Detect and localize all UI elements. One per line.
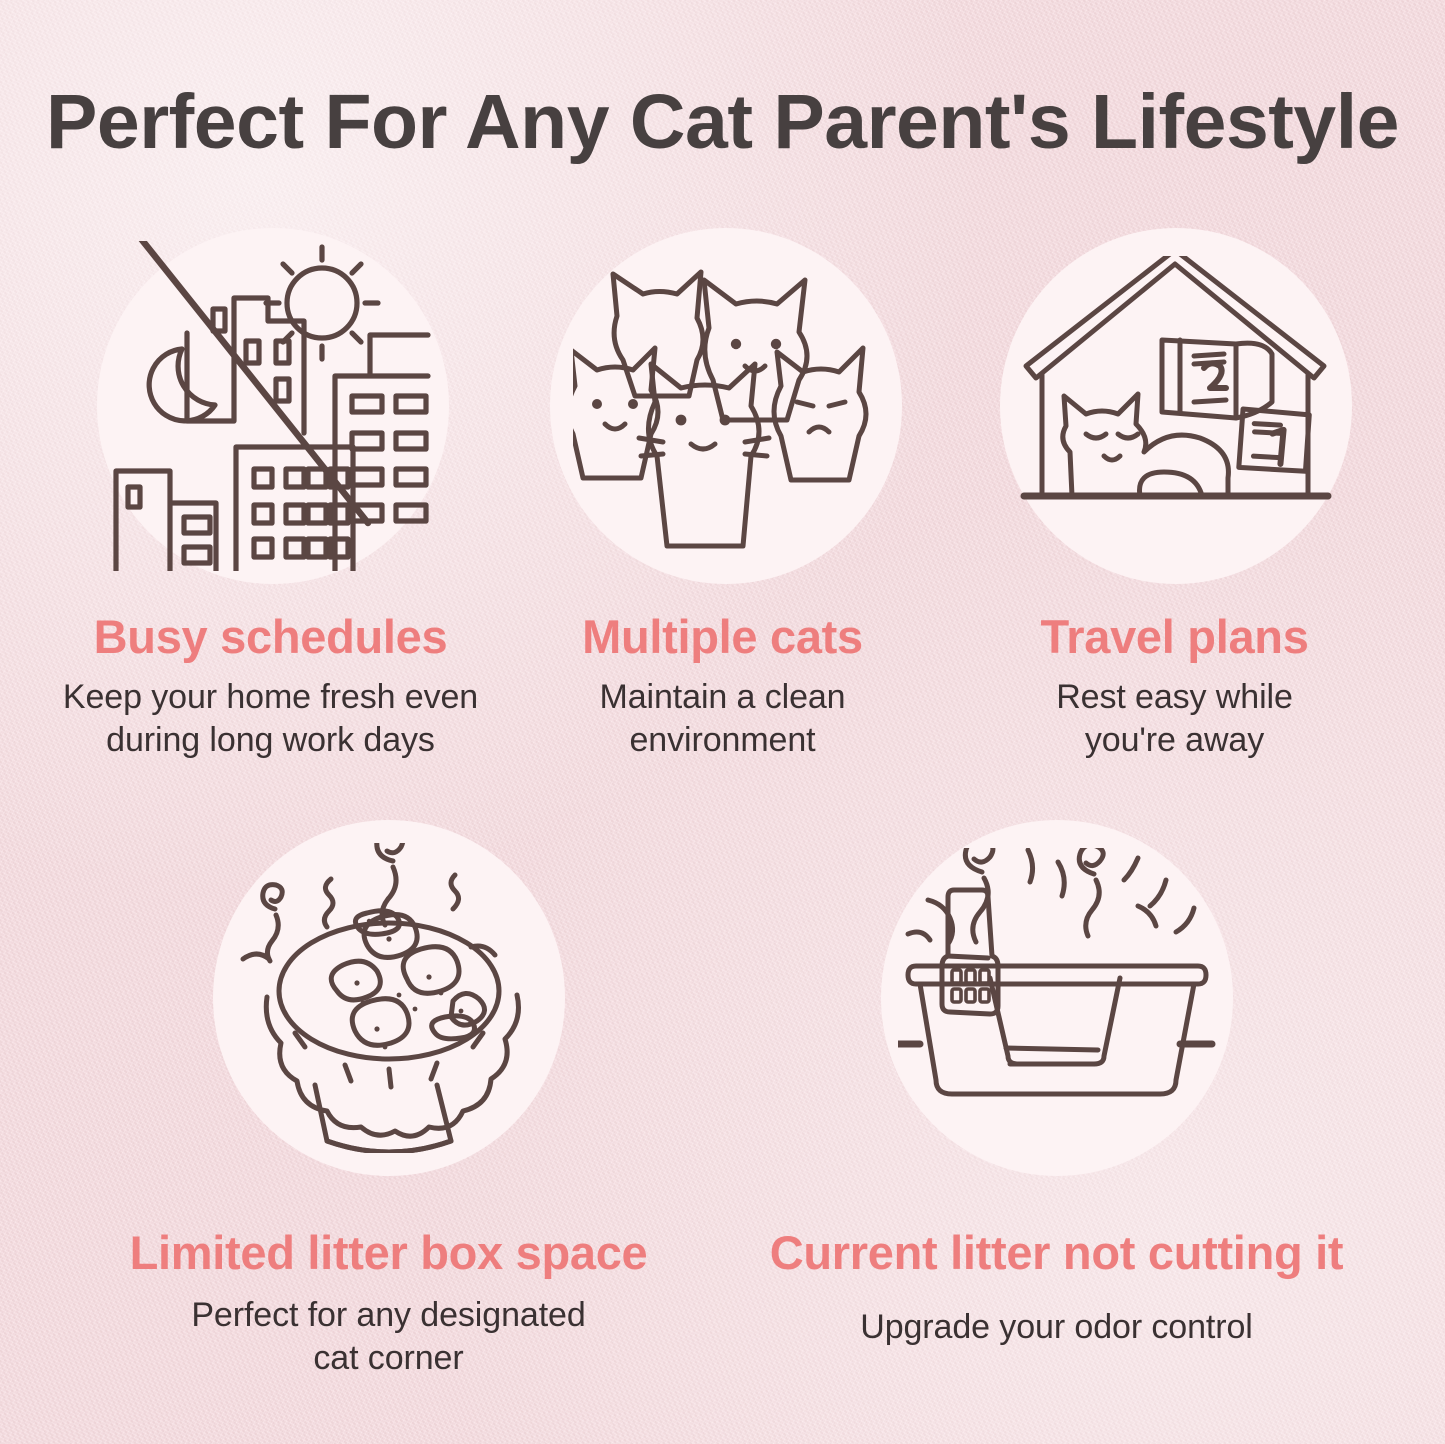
- house-with-sleeping-cat-calendar-icon: [1000, 228, 1352, 584]
- cat-front: [639, 364, 769, 546]
- feature-title: Multiple cats: [582, 612, 863, 662]
- cat-back-right: [704, 280, 807, 420]
- feature-description: Keep your home fresh even during long wo…: [63, 676, 478, 763]
- cat-back-left: [613, 272, 703, 396]
- feature-description: Maintain a clean environment: [600, 676, 846, 763]
- moon-icon: [149, 349, 215, 421]
- litter-clumps: [331, 911, 484, 1050]
- feature-title: Current litter not cutting it: [770, 1228, 1344, 1278]
- feature-card-multiple-cats: Multiple cats Maintain a clean environme…: [497, 228, 949, 763]
- feature-description: Rest easy while you're away: [1056, 676, 1293, 763]
- feature-card-busy-schedules: Busy schedules Keep your home fresh even…: [45, 228, 497, 763]
- feature-title: Limited litter box space: [130, 1228, 648, 1278]
- city-buildings-icon: [116, 298, 428, 571]
- feature-row-bottom: Limited litter box space Perfect for any…: [0, 820, 1445, 1381]
- cat-left: [573, 348, 658, 478]
- feature-card-current-litter: Current litter not cutting it Upgrade yo…: [727, 820, 1387, 1381]
- litter-box-icon: [898, 890, 1212, 1094]
- feature-card-travel-plans: Travel plans Rest easy while you're away: [949, 228, 1401, 763]
- odor-squiggles-icon: [908, 848, 1194, 944]
- page-title: Perfect For Any Cat Parent's Lifestyle: [0, 78, 1445, 167]
- feature-row-top: Busy schedules Keep your home fresh even…: [0, 228, 1445, 763]
- multiple-cats-icon: [550, 228, 902, 584]
- feature-description: Perfect for any designated cat corner: [191, 1294, 585, 1381]
- litter-box-with-scoop-odor-icon: [881, 820, 1233, 1176]
- feature-card-limited-space: Limited litter box space Perfect for any…: [59, 820, 719, 1381]
- calendar-page-2: [1162, 340, 1272, 418]
- calendar-page-1: [1230, 401, 1316, 481]
- feature-description: Upgrade your odor control: [860, 1306, 1253, 1350]
- feature-title: Busy schedules: [94, 612, 448, 662]
- day-night-cityscape-icon: [97, 228, 449, 584]
- smelly-litter-bowl-icon: [213, 820, 565, 1176]
- sleeping-cat-icon: [1062, 394, 1228, 496]
- odor-squiggles-icon: [243, 843, 495, 961]
- litter-scoop-icon: [942, 890, 998, 1014]
- feature-title: Travel plans: [1040, 612, 1308, 662]
